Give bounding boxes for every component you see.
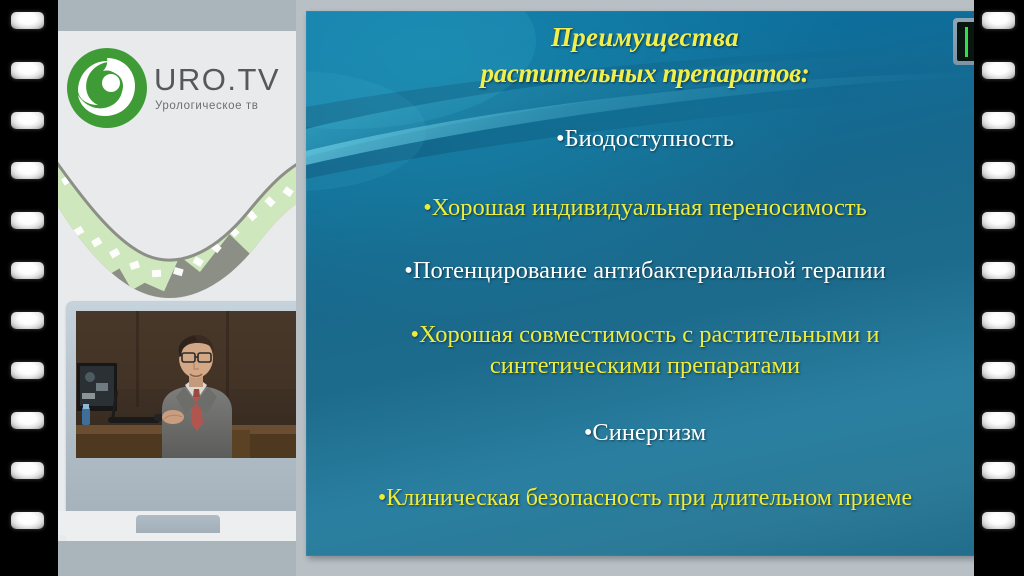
presentation-slide: Преимущества растительных препаратов: •Б… xyxy=(306,11,984,556)
left-branding-panel: URO.TV Урологическое тв xyxy=(58,0,306,576)
film-sprocket-icon xyxy=(982,212,1015,229)
film-sprocket-icon xyxy=(11,362,44,379)
film-sprocket-icon xyxy=(11,262,44,279)
video-thumbnail[interactable] xyxy=(76,311,296,458)
film-sprocket-icon xyxy=(982,62,1015,79)
page-title: Преимущества растительных препаратов: xyxy=(306,19,984,91)
film-sprocket-icon xyxy=(982,462,1015,479)
film-border-right xyxy=(974,0,1024,576)
slide-bullet-list: •Биодоступность •Хорошая индивидуальная … xyxy=(306,123,984,514)
film-sprocket-icon xyxy=(982,162,1015,179)
film-sprocket-icon xyxy=(11,112,44,129)
film-sprocket-icon xyxy=(982,262,1015,279)
top-gray-bar xyxy=(58,0,306,31)
film-sprocket-icon xyxy=(11,162,44,179)
video-player-stage: URO.TV Урологическое тв xyxy=(0,0,1024,576)
list-item: •Биодоступность xyxy=(306,123,984,154)
signal-bar xyxy=(965,27,968,57)
list-item: •Клиническая безопасность при длительном… xyxy=(306,483,984,514)
slide-title-line2: растительных препаратов: xyxy=(306,55,984,91)
film-border-left xyxy=(0,0,58,576)
slide-frame: Преимущества растительных препаратов: •Б… xyxy=(296,0,984,576)
film-sprocket-icon xyxy=(982,412,1015,429)
bottom-gray-bar xyxy=(58,541,306,576)
film-sprocket-icon xyxy=(11,512,44,529)
film-sprocket-icon xyxy=(11,12,44,29)
brand-subtitle: Урологическое тв xyxy=(155,100,258,112)
slide-content: Преимущества растительных препаратов: •Б… xyxy=(306,11,984,556)
film-strip-icon xyxy=(58,150,306,302)
film-sprocket-icon xyxy=(11,212,44,229)
list-item-continuation: синтетическими препаратами xyxy=(306,350,984,381)
list-item: •Хорошая индивидуальная переносимость xyxy=(306,192,984,223)
film-sprocket-icon xyxy=(11,62,44,79)
brand-logo-row: URO.TV Урологическое тв xyxy=(58,44,306,144)
film-sprocket-icon xyxy=(982,112,1015,129)
film-sprocket-icon xyxy=(11,312,44,329)
list-item: •Синергизм xyxy=(306,417,984,448)
brand-wordmark: URO.TV xyxy=(154,62,280,98)
monitor-stand-base xyxy=(66,533,306,541)
list-item: •Хорошая совместимость с растительными и xyxy=(306,319,984,350)
list-item: •Потенцирование антибактериальной терапи… xyxy=(306,255,984,286)
film-sprocket-icon xyxy=(982,12,1015,29)
film-sprocket-icon xyxy=(11,462,44,479)
film-sprocket-icon xyxy=(982,312,1015,329)
film-sprocket-icon xyxy=(11,412,44,429)
film-sprocket-icon xyxy=(982,362,1015,379)
slide-title-line1: Преимущества xyxy=(306,19,984,55)
video-monitor-frame xyxy=(66,301,306,515)
uro-tv-aperture-logo-icon xyxy=(65,46,149,130)
film-sprocket-icon xyxy=(982,512,1015,529)
